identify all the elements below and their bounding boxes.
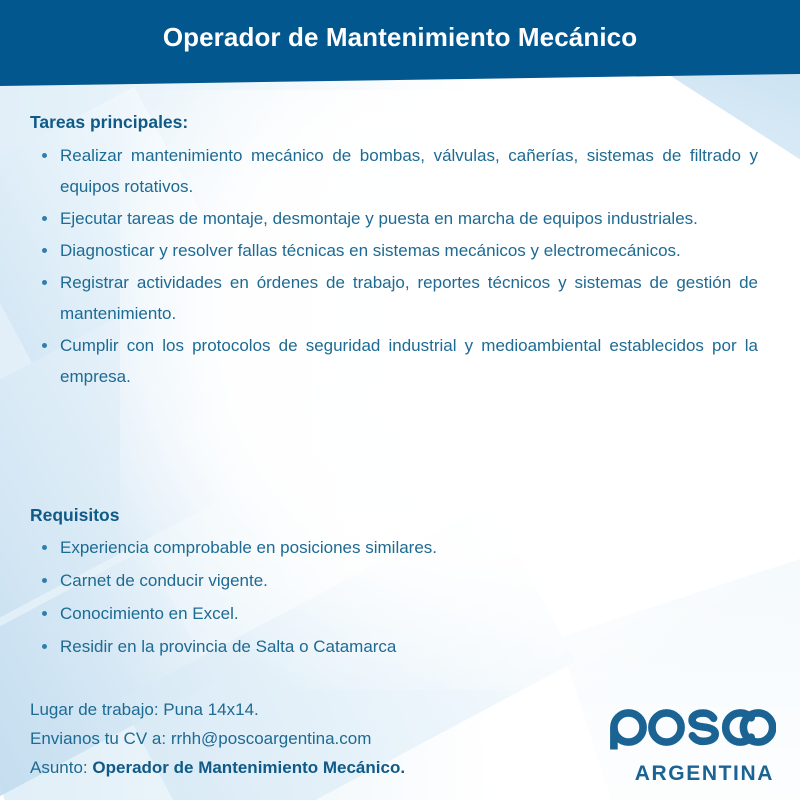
cv-label: Envianos tu CV a:	[30, 729, 166, 748]
list-item: Experiencia comprobable en posiciones si…	[60, 532, 700, 563]
list-item: Residir en la provincia de Salta o Catam…	[60, 631, 700, 662]
list-item: Carnet de conducir vigente.	[60, 565, 700, 596]
workplace-label: Lugar de trabajo:	[30, 700, 159, 719]
requisitos-item-text: Residir en la provincia de Salta o Catam…	[60, 637, 396, 656]
subject-label: Asunto:	[30, 758, 88, 777]
requisitos-list: Experiencia comprobable en posiciones si…	[0, 532, 700, 664]
section-heading-requisitos: Requisitos	[30, 505, 119, 526]
company-logo: ARGENTINA	[608, 706, 776, 784]
requisitos-item-text: Conocimiento en Excel.	[60, 604, 239, 623]
section-heading-tareas: Tareas principales:	[30, 112, 188, 133]
cv-email[interactable]: rrhh@poscoargentina.com	[171, 729, 372, 748]
posco-subtitle: ARGENTINA	[608, 763, 774, 784]
tareas-item-text: Diagnosticar y resolver fallas técnicas …	[60, 235, 758, 266]
list-item: Registrar actividades en órdenes de trab…	[60, 267, 758, 329]
list-item: Cumplir con los protocolos de seguridad …	[60, 330, 758, 392]
workplace-value: Puna 14x14.	[163, 700, 258, 719]
cv-line: Envianos tu CV a: rrhh@poscoargentina.co…	[30, 724, 405, 753]
job-posting-poster: Operador de Mantenimiento Mecánico Tarea…	[0, 0, 800, 800]
tareas-item-text: Realizar mantenimiento mecánico de bomba…	[60, 140, 758, 202]
posco-wordmark-icon	[608, 706, 776, 756]
list-item: Realizar mantenimiento mecánico de bomba…	[60, 140, 758, 202]
tareas-item-text: Ejecutar tareas de montaje, desmontaje y…	[60, 203, 758, 234]
tareas-list: Realizar mantenimiento mecánico de bomba…	[0, 140, 790, 393]
requisitos-item-text: Experiencia comprobable en posiciones si…	[60, 538, 437, 557]
requisitos-item-text: Carnet de conducir vigente.	[60, 571, 268, 590]
subject-value: Operador de Mantenimiento Mecánico.	[92, 758, 405, 777]
main-content: Tareas principales: Realizar mantenimien…	[0, 0, 800, 800]
list-item: Conocimiento en Excel.	[60, 598, 700, 629]
tareas-item-text: Registrar actividades en órdenes de trab…	[60, 267, 758, 329]
tareas-item-text: Cumplir con los protocolos de seguridad …	[60, 330, 758, 392]
subject-line: Asunto: Operador de Mantenimiento Mecáni…	[30, 753, 405, 782]
list-item: Diagnosticar y resolver fallas técnicas …	[60, 235, 758, 266]
workplace-line: Lugar de trabajo: Puna 14x14.	[30, 695, 405, 724]
contact-block: Lugar de trabajo: Puna 14x14. Envianos t…	[30, 695, 405, 782]
list-item: Ejecutar tareas de montaje, desmontaje y…	[60, 203, 758, 234]
